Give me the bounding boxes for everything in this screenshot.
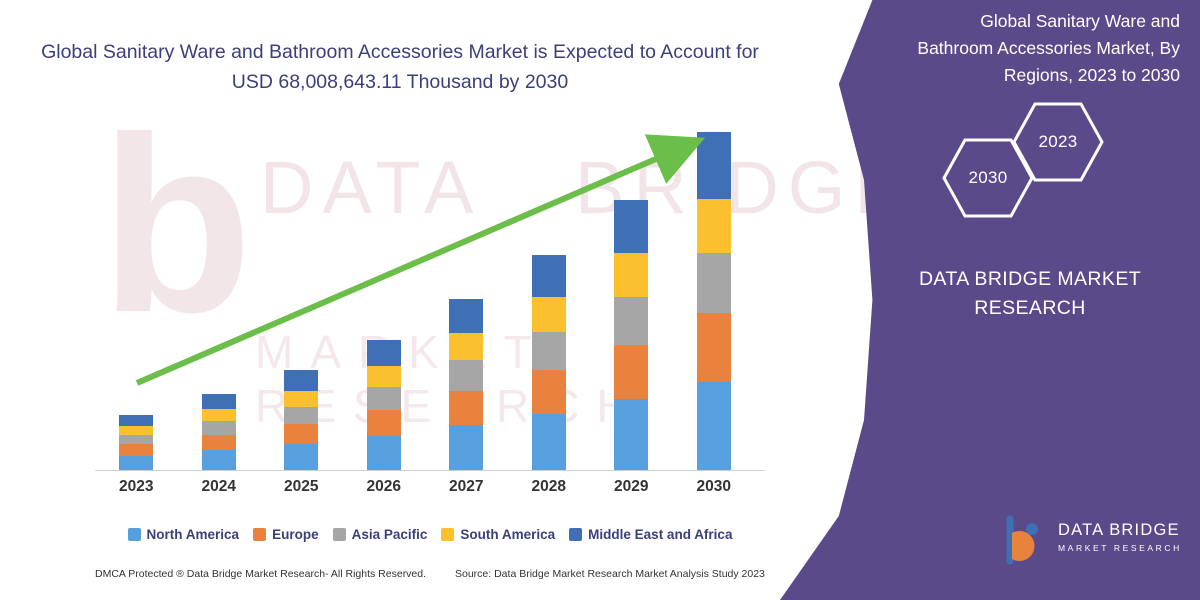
legend-label: Europe: [272, 527, 319, 542]
bar-group-2023: [119, 415, 153, 470]
x-axis-label: 2030: [679, 478, 749, 496]
bar-group-2027: [449, 299, 483, 470]
bar-segment: [367, 410, 401, 436]
bar-segment: [532, 370, 566, 413]
x-axis-label: 2025: [266, 478, 336, 496]
bar-segment: [697, 382, 731, 470]
chart-legend: North AmericaEuropeAsia PacificSouth Ame…: [100, 522, 760, 546]
x-axis-label: 2023: [101, 478, 171, 496]
bar-segment: [119, 415, 153, 426]
bar-segment: [614, 200, 648, 253]
right-panel: Global Sanitary Ware and Bathroom Access…: [780, 0, 1200, 600]
hexagon-2023: 2023: [1012, 102, 1104, 182]
poster-root: b DATA BRIDGE MARKET RESEARCH Global San…: [0, 0, 1200, 600]
bar-segment: [449, 360, 483, 391]
bar-segment: [202, 409, 236, 421]
bar-segment: [614, 297, 648, 345]
legend-swatch-icon: [441, 528, 454, 541]
bar-group-2030: [697, 132, 731, 470]
bar-segment: [697, 199, 731, 254]
legend-item[interactable]: North America: [128, 527, 240, 542]
bar-segment: [367, 340, 401, 366]
bar-segment: [119, 444, 153, 455]
bar-segment: [532, 332, 566, 371]
bar-segment: [284, 424, 318, 444]
x-axis-labels: 20232024202520262027202820292030: [95, 478, 765, 502]
bar-segment: [284, 444, 318, 470]
legend-item[interactable]: Middle East and Africa: [569, 527, 732, 542]
bar-segment: [449, 425, 483, 470]
logo-subtitle: MARKET RESEARCH: [1058, 543, 1182, 553]
logo-b-icon: [1000, 515, 1052, 565]
footer-copyright: DMCA Protected ® Data Bridge Market Rese…: [95, 568, 426, 580]
footer-source: Source: Data Bridge Market Research Mark…: [455, 568, 765, 580]
bar-segment: [614, 253, 648, 296]
bar-segment: [614, 345, 648, 400]
legend-label: Middle East and Africa: [588, 527, 732, 542]
legend-swatch-icon: [569, 528, 582, 541]
bar-segment: [119, 456, 153, 470]
x-axis-label: 2027: [431, 478, 501, 496]
legend-label: South America: [460, 527, 555, 542]
bar-segment: [449, 333, 483, 360]
x-axis-label: 2029: [596, 478, 666, 496]
page-title: Global Sanitary Ware and Bathroom Access…: [20, 38, 780, 97]
hexagon-group: 2030 2023: [940, 110, 1160, 220]
legend-label: North America: [147, 527, 240, 542]
bar-segment: [697, 253, 731, 313]
bar-segment: [284, 407, 318, 425]
hexagon-2030-label: 2030: [968, 168, 1007, 188]
stacked-bar-plot: [95, 120, 755, 470]
bar-segment: [367, 436, 401, 470]
bar-segment: [532, 297, 566, 332]
bar-group-2026: [367, 340, 401, 470]
legend-item[interactable]: Asia Pacific: [333, 527, 428, 542]
legend-item[interactable]: Europe: [253, 527, 319, 542]
legend-swatch-icon: [333, 528, 346, 541]
bar-segment: [202, 394, 236, 409]
right-panel-title: Global Sanitary Ware and Bathroom Access…: [900, 8, 1180, 89]
page-title-line2: USD 68,008,643.11 Thousand by 2030: [20, 68, 780, 98]
bar-segment: [284, 391, 318, 407]
x-axis-line: [95, 470, 765, 471]
bar-segment: [532, 255, 566, 298]
right-panel-brand-line2: RESEARCH: [880, 294, 1180, 323]
bar-group-2028: [532, 255, 566, 470]
bar-segment: [614, 399, 648, 470]
bar-segment: [367, 387, 401, 410]
bar-segment: [202, 435, 236, 450]
legend-label: Asia Pacific: [352, 527, 428, 542]
footer: DMCA Protected ® Data Bridge Market Rese…: [0, 568, 800, 590]
hexagon-2023-label: 2023: [1038, 132, 1077, 152]
bar-group-2029: [614, 200, 648, 470]
bar-segment: [697, 313, 731, 381]
bar-group-2025: [284, 370, 318, 470]
bar-segment: [449, 391, 483, 426]
logo-title: DATA BRIDGE: [1058, 521, 1180, 540]
bar-segment: [119, 426, 153, 435]
x-axis-label: 2024: [184, 478, 254, 496]
bar-segment: [202, 450, 236, 470]
right-panel-brand: DATA BRIDGE MARKET RESEARCH: [880, 265, 1180, 324]
bar-segment: [284, 370, 318, 390]
legend-swatch-icon: [253, 528, 266, 541]
bar-segment: [532, 414, 566, 470]
legend-item[interactable]: South America: [441, 527, 555, 542]
company-logo: DATA BRIDGE MARKET RESEARCH: [1000, 515, 1190, 570]
chart-area: b DATA BRIDGE MARKET RESEARCH Global San…: [0, 0, 800, 600]
right-panel-brand-line1: DATA BRIDGE MARKET: [880, 265, 1180, 294]
x-axis-label: 2026: [349, 478, 419, 496]
bar-segment: [202, 421, 236, 435]
bar-segment: [697, 132, 731, 199]
page-title-line1: Global Sanitary Ware and Bathroom Access…: [20, 38, 780, 68]
bar-segment: [367, 366, 401, 387]
bar-group-2024: [202, 394, 236, 470]
legend-swatch-icon: [128, 528, 141, 541]
bar-segment: [119, 435, 153, 445]
bar-segment: [449, 299, 483, 333]
x-axis-label: 2028: [514, 478, 584, 496]
